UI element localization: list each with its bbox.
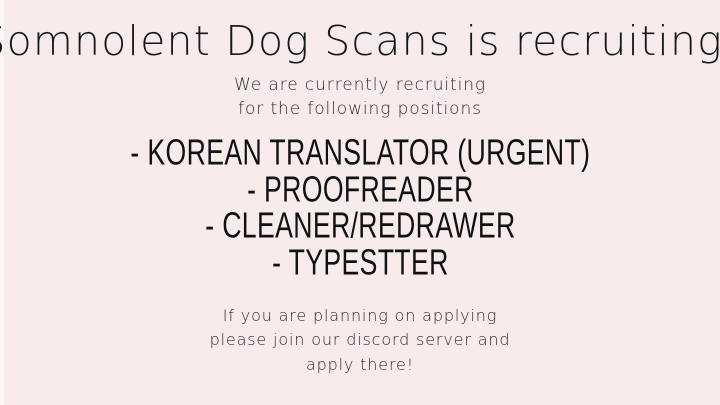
page-title: Somnolent Dog Scans is recruiting! [0,20,720,63]
subheading-line-2: for the following positions [234,97,486,121]
subheading-line-1: We are currently recruiting [234,73,486,97]
recruitment-poster: Somnolent Dog Scans is recruiting! We ar… [0,0,720,405]
positions-list: - KOREAN TRANSLATOR (URGENT) - PROOFREAD… [93,135,628,281]
application-instructions: If you are planning on applying please j… [210,304,511,378]
list-item: - TYPESTTER [130,242,590,284]
instructions-line-2: please join our discord server and [210,328,511,353]
poster-content: Somnolent Dog Scans is recruiting! We ar… [0,0,720,405]
instructions-line-3: apply there! [210,353,511,378]
instructions-line-1: If you are planning on applying [210,304,511,329]
subheading-block: We are currently recruiting for the foll… [234,73,486,121]
